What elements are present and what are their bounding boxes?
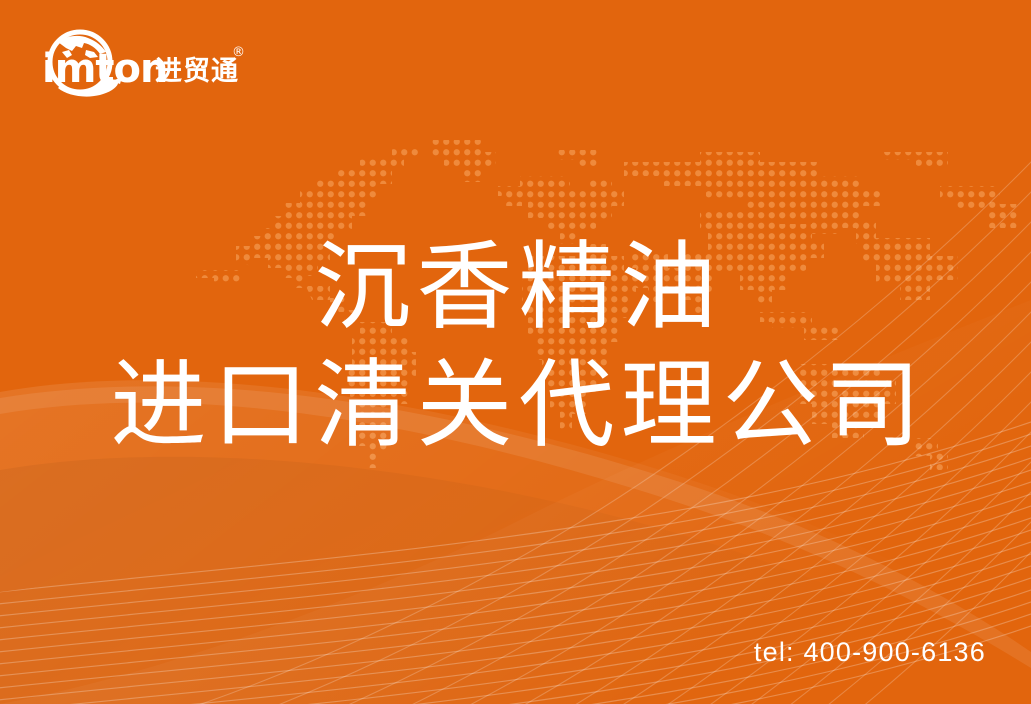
logo-wordmark: imton (42, 46, 167, 92)
logo-chinese-name: 进贸通 (155, 56, 239, 87)
registered-trademark-icon: ® (232, 45, 245, 60)
headline-block: 沉香精油 进口清关代理公司 (0, 228, 1031, 464)
headline-line-1: 沉香精油 (0, 228, 1031, 346)
headline-line-2: 进口清关代理公司 (0, 346, 1031, 464)
telephone-label: tel: 400-900-6136 (754, 637, 986, 668)
promotional-banner: imton 进贸通 ® 沉香精油 进口清关代理公司 tel: 400-900-6… (0, 0, 1031, 704)
brand-logo[interactable]: imton 进贸通 ® (38, 26, 248, 104)
